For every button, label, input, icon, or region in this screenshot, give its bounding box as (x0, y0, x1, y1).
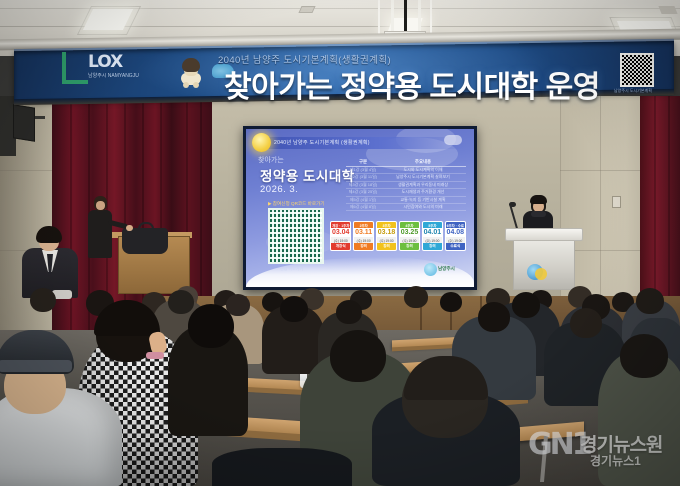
banner-qr-code[interactable] (620, 53, 654, 87)
audience-head (336, 300, 362, 324)
audience-head (168, 290, 194, 314)
projector-cable (404, 0, 407, 34)
mascot-leg (193, 82, 199, 88)
table-cell: 도시와 도시계획의 이해 (380, 168, 466, 172)
table-cell: 생활권계획과 우리동네 미래상 (380, 183, 466, 187)
table-header-cell: 주요내용 (380, 159, 466, 165)
table-cell: 제2강 (3월 11일) (346, 175, 380, 179)
slide-date-box: 3주차 03.18 (수) 19:00 강의 (376, 221, 397, 251)
table-row: 제2강 (3월 11일) 남양주시 도시기본계획 살펴보기 (346, 174, 466, 181)
podium-body (513, 240, 575, 290)
audience-head (620, 334, 668, 378)
slide-date-box: 5주차 04.01 (수) 19:00 강의 (422, 221, 443, 251)
podium-emblem-icon (535, 268, 547, 280)
wrist-band (146, 352, 164, 359)
date-box-date: 03.18 (377, 228, 396, 237)
speaker-hair (530, 195, 547, 204)
date-box-foot: 수료식 (446, 243, 465, 250)
table-row: 제6강 (4월 8일) 시민참여와 도시의 미래 (346, 204, 466, 211)
city-logo-sub: 남양주시 NAMYANGJU (88, 72, 174, 79)
wall-tile-seam (0, 170, 56, 171)
table-row: 제5강 (4월 1일) 교통·녹지 등 기반시설 계획 (346, 197, 466, 204)
curtain-fold (124, 96, 126, 334)
audience-head (478, 302, 510, 332)
slide-schedule-table: 구분 주요내용 제1강 (3월 4일) 도시와 도시계획의 이해 제2강 (3월… (346, 159, 466, 211)
watermark: GN1 경기뉴스원 경기뉴스1 (528, 424, 678, 478)
date-box-foot: 개강식 (331, 243, 350, 250)
speaker-collar (531, 211, 546, 217)
curtain-fold (200, 96, 202, 324)
podium (505, 228, 583, 290)
briefcase (122, 228, 168, 254)
table-cell: 제3강 (3월 18일) (346, 183, 380, 187)
mascot-leg (183, 82, 189, 88)
date-box-foot: 강의 (354, 243, 373, 250)
slide-date-box: 2주차 03.11 (수) 19:00 강의 (353, 221, 374, 251)
date-box-date: 03.04 (331, 228, 350, 237)
wall-switch-plate[interactable] (612, 196, 621, 208)
sun-icon (252, 133, 271, 152)
table-cell: 제4강 (3월 25일) (346, 190, 380, 194)
table-cell: 시민참여와 도시의 미래 (380, 205, 466, 209)
table-cell: 제1강 (3월 4일) (346, 168, 380, 172)
projection-screen: 2040년 남양주 도시기본계획 (생활권계획) 찾아가는 정약용 도시대학 2… (246, 129, 474, 287)
table-header-cell: 구분 (346, 159, 380, 165)
table-cell: 제6강 (4월 8일) (346, 205, 380, 209)
slide-date-box: 6주차 · 수료 04.08 (수) 19:00 수료식 (445, 221, 466, 251)
audience-head (440, 292, 462, 312)
standing-assistant (88, 196, 112, 260)
banner-qr-caption: 남양주시 도시기본계획 (614, 88, 652, 94)
slide-mascot-icon (424, 263, 437, 276)
mascot-icon (178, 58, 204, 86)
date-box-date: 03.11 (354, 228, 373, 237)
table-cell: 남양주시 도시기본계획 살펴보기 (380, 175, 466, 179)
slide-date-box: 개강 · 1주차 03.04 (수) 19:00 개강식 (330, 221, 351, 251)
slide-qr-caption-2: 신청 바로가기 (280, 266, 303, 272)
slide-qr-code[interactable] (268, 208, 324, 264)
slide-date: 2026. 3. (260, 184, 298, 195)
assistant-body (88, 210, 112, 258)
date-box-foot: 강의 (400, 243, 419, 250)
audience-head (636, 288, 664, 314)
slide-mascot-label: 남양주시 (438, 266, 455, 272)
wall-speaker (13, 104, 35, 141)
table-cell: 제5강 (4월 1일) (346, 198, 380, 202)
date-box-date: 03.25 (400, 228, 419, 237)
slide-title-big: 정약용 도시대학 (260, 165, 355, 185)
ceiling-vent (658, 6, 677, 14)
wall-speaker-bracket (35, 116, 45, 119)
banner-logo-accent (62, 80, 88, 84)
date-box-foot: 강의 (377, 243, 396, 250)
city-logo-mark: LOX (88, 54, 174, 71)
audience-head (404, 286, 428, 308)
assistant-face (96, 201, 105, 210)
beanie-brim (0, 360, 72, 372)
date-box-foot: 강의 (423, 243, 442, 250)
audience-head (30, 288, 56, 312)
table-row: 제4강 (3월 25일) 도시재생과 주거환경 개선 (346, 189, 466, 196)
watermark-line-2: 경기뉴스1 (590, 452, 641, 469)
mascot-head (182, 58, 200, 72)
audience-head (330, 330, 386, 382)
date-box-date: 04.08 (446, 228, 465, 237)
briefcase-handle (138, 222, 154, 230)
slide-date-box: 4주차 03.25 (수) 19:00 강의 (399, 221, 420, 251)
slide-title-small: 찾아가는 (258, 155, 284, 165)
table-header-row: 구분 주요내용 (346, 159, 466, 167)
slide-header-text: 2040년 남양주 도시기본계획 (생활권계획) (274, 139, 370, 146)
audience-person (212, 448, 352, 486)
audience-head (188, 304, 234, 348)
slide-date-box-row: 개강 · 1주차 03.04 (수) 19:00 개강식 2주차 03.11 (… (330, 221, 466, 251)
audience-head (570, 308, 602, 338)
table-cell: 도시재생과 주거환경 개선 (380, 190, 466, 194)
audience-head (280, 296, 308, 322)
city-logo: LOX 남양주시 NAMYANGJU (88, 54, 174, 84)
assistant-hand (126, 225, 133, 231)
date-box-date: 04.01 (423, 228, 442, 237)
table-cell: 교통·녹지 등 기반시설 계획 (380, 198, 466, 202)
seated-host (22, 226, 78, 298)
photo-scene: LOX 남양주시 NAMYANGJU 2040년 남양주 도시기본계획(생활권계… (0, 0, 680, 486)
slide-qr-caption: ▶ 참여신청 QR코드 바로가기 (268, 201, 325, 207)
host-hair (36, 226, 62, 243)
slide-logo (444, 135, 462, 145)
audience-head (512, 292, 540, 318)
podium-top (505, 228, 583, 241)
slide-mascot: 남양주시 (424, 261, 458, 277)
event-banner: LOX 남양주시 NAMYANGJU 2040년 남양주 도시기본계획(생활권계… (0, 44, 680, 104)
banner-title: 찾아가는 정약용 도시대학 운영 (224, 62, 600, 106)
